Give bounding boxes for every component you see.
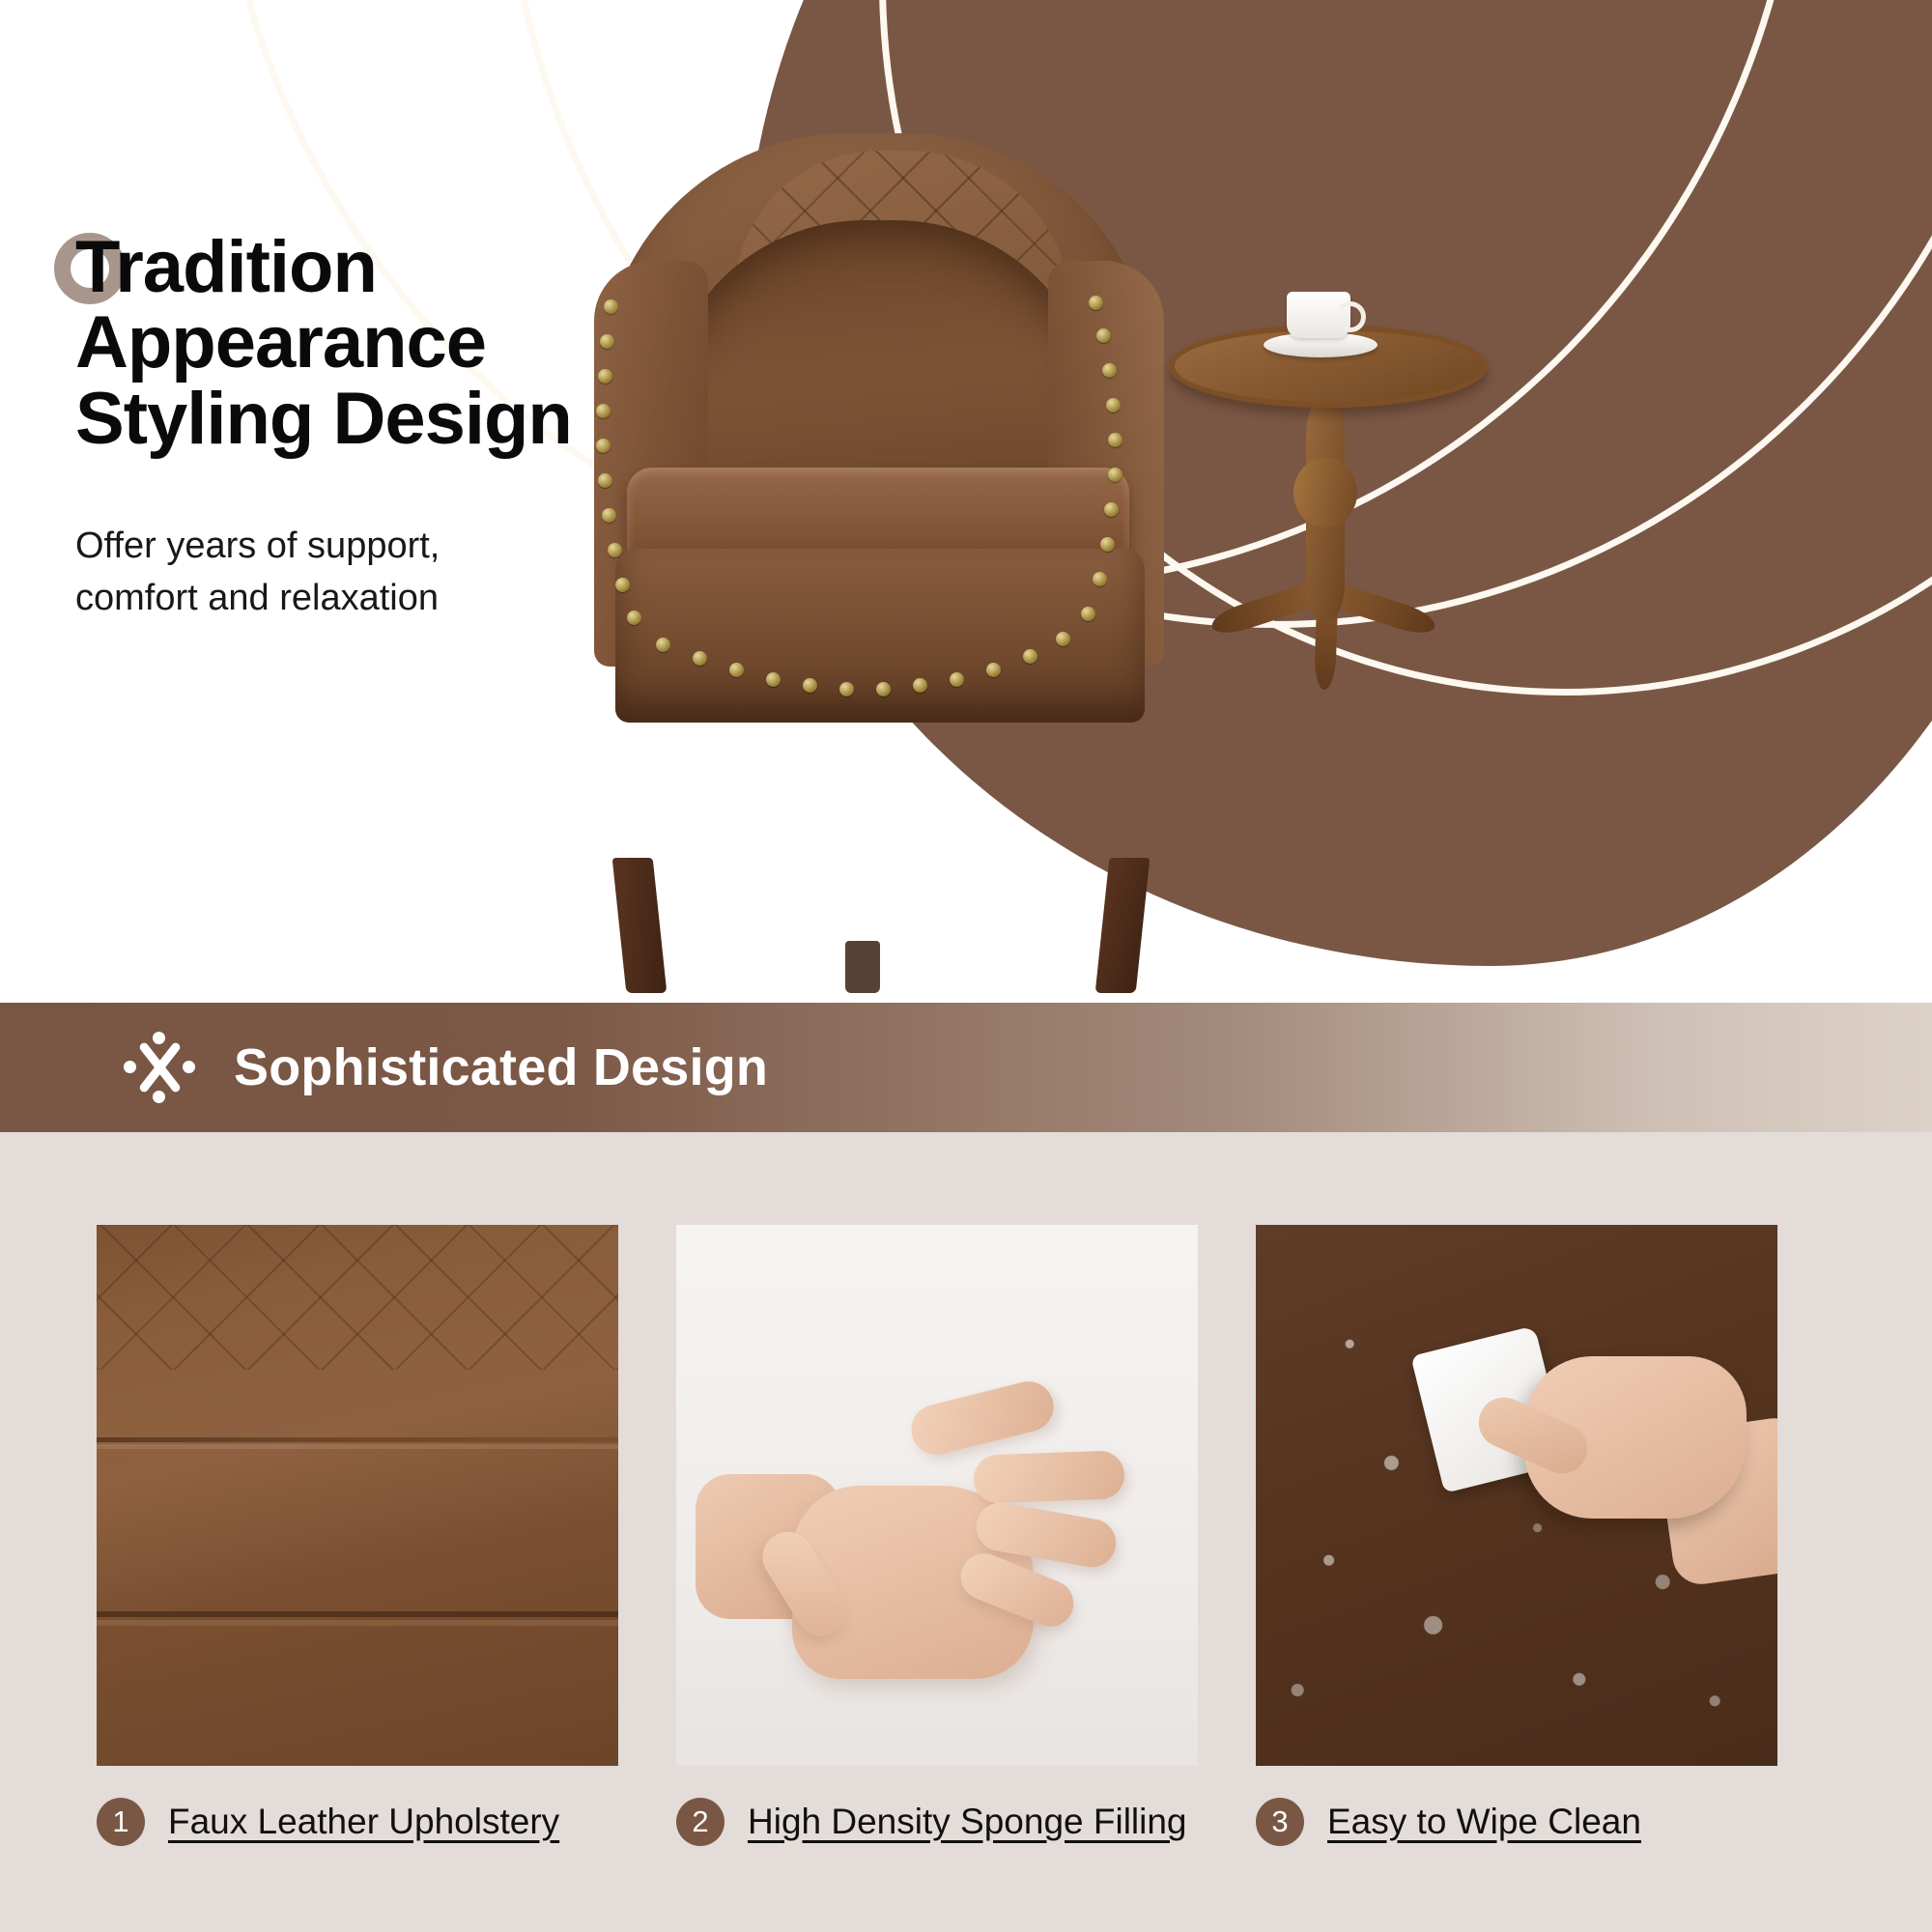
feature-item: 1 Faux Leather Upholstery xyxy=(97,1225,618,1849)
feature-label: High Density Sponge Filling xyxy=(748,1795,1187,1849)
hand-illustration xyxy=(734,1370,1111,1689)
icon-dot-bottom xyxy=(153,1091,165,1103)
feature-caption: 3 Easy to Wipe Clean xyxy=(1256,1795,1777,1849)
feature-label: Faux Leather Upholstery xyxy=(168,1795,559,1849)
feature-number-badge: 3 xyxy=(1256,1798,1304,1846)
banner-title: Sophisticated Design xyxy=(234,1037,768,1097)
hero-copy-block: Tradition Appearance Styling Design Offe… xyxy=(75,230,674,625)
headline-line-2: Appearance xyxy=(75,301,486,384)
subtitle-line-2: comfort and relaxation xyxy=(75,578,439,618)
icon-dot-left xyxy=(124,1061,136,1073)
icon-dot-right xyxy=(183,1061,195,1073)
feature-number-badge: 1 xyxy=(97,1798,145,1846)
hero-subtitle: Offer years of support, comfort and rela… xyxy=(75,521,578,625)
hand-pressing-foam-photo xyxy=(676,1225,1198,1766)
hand-finger-index xyxy=(906,1377,1059,1461)
coffee-cup xyxy=(1287,292,1350,338)
feature-item: 3 Easy to Wipe Clean xyxy=(1256,1225,1777,1849)
headline-line-1: Tradition xyxy=(75,226,377,308)
feature-grid: 1 Faux Leather Upholstery xyxy=(97,1225,1835,1849)
chair-leg-rear xyxy=(845,941,880,993)
feature-label: Easy to Wipe Clean xyxy=(1327,1795,1641,1849)
chair-leg-front-right xyxy=(1095,858,1151,993)
feature-number-badge: 2 xyxy=(676,1798,724,1846)
headline-line-3: Styling Design xyxy=(75,378,572,460)
feature-item: 2 High Density Sponge Filling xyxy=(676,1225,1198,1849)
feature-caption: 1 Faux Leather Upholstery xyxy=(97,1795,618,1849)
section-banner: Sophisticated Design xyxy=(0,1003,1932,1132)
feature-caption: 2 High Density Sponge Filling xyxy=(676,1795,1198,1849)
features-section: 1 Faux Leather Upholstery xyxy=(0,1132,1932,1932)
wiping-water-droplets-photo xyxy=(1256,1225,1777,1766)
product-marketing-page: Tradition Appearance Styling Design Offe… xyxy=(0,0,1932,1932)
hand-finger-middle xyxy=(973,1450,1125,1503)
table-pedestal xyxy=(1306,398,1345,620)
leather-cushion-closeup-photo xyxy=(97,1225,618,1766)
wiping-hand-illustration xyxy=(1495,1318,1776,1559)
hero-section: Tradition Appearance Styling Design Offe… xyxy=(0,0,1932,1003)
page-title: Tradition Appearance Styling Design xyxy=(75,230,674,457)
chair-leg-front-left xyxy=(612,858,668,993)
side-table-image xyxy=(1169,290,1536,753)
icon-dot-top xyxy=(153,1032,165,1044)
subtitle-line-1: Offer years of support, xyxy=(75,526,440,566)
diamond-cross-icon xyxy=(124,1032,195,1103)
